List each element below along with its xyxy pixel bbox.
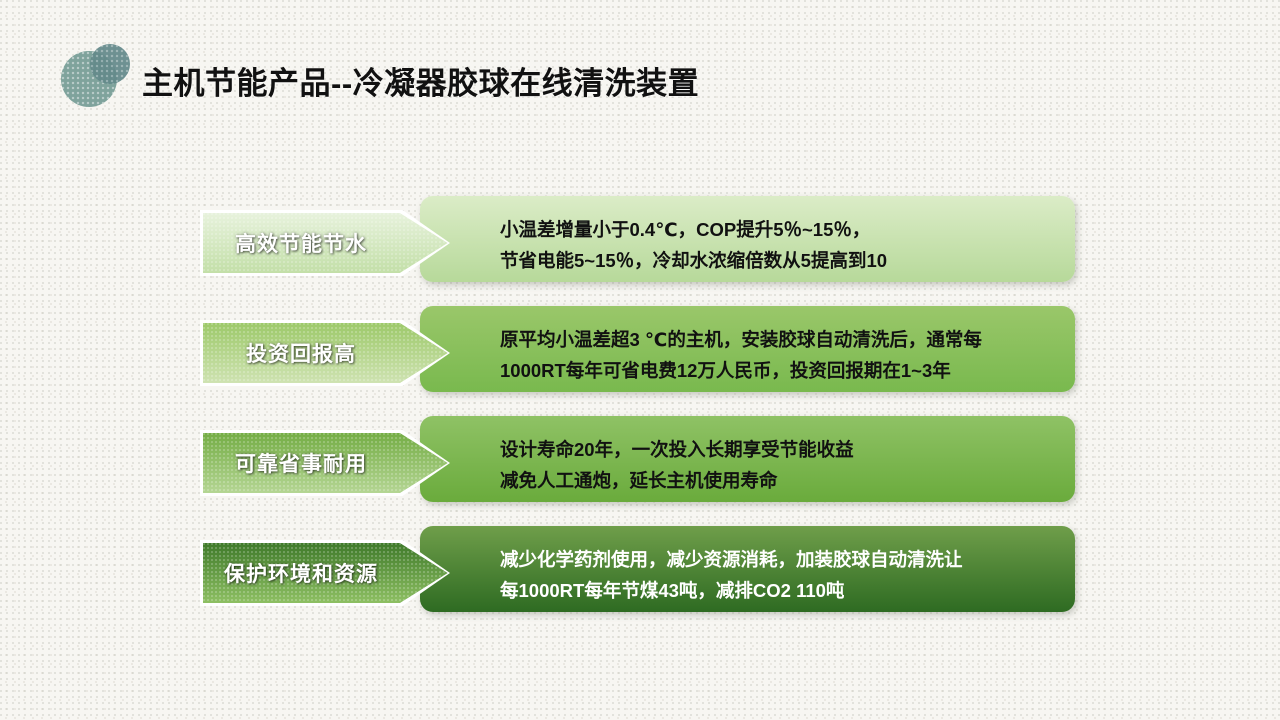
benefit-panel: 减少化学药剂使用，减少资源消耗，加装胶球自动清洗让 每1000RT每年节煤43吨… <box>420 526 1075 612</box>
benefit-panel: 小温差增量小于0.4℃，COP提升5％~15％， 节省电能5~15％，冷却水浓缩… <box>420 196 1075 282</box>
benefit-arrow-badge[interactable]: 可靠省事耐用 <box>200 430 450 496</box>
benefit-body-text: 原平均小温差超3 ℃的主机，安装胶球自动清洗后，通常每 1000RT每年可省电费… <box>500 324 1059 386</box>
benefit-body-text: 小温差增量小于0.4℃，COP提升5％~15％， 节省电能5~15％，冷却水浓缩… <box>500 214 1059 276</box>
page-title: 主机节能产品--冷凝器胶球在线清洗装置 <box>142 58 699 103</box>
benefit-row: 设计寿命20年，一次投入长期享受节能收益 减免人工通炮，延长主机使用寿命 可靠省… <box>0 416 1280 512</box>
benefit-arrow-label: 保护环境和资源 <box>200 540 402 606</box>
benefit-arrow-label: 高效节能节水 <box>200 210 402 276</box>
benefit-arrow-badge[interactable]: 投资回报高 <box>200 320 450 386</box>
benefit-arrow-label: 可靠省事耐用 <box>200 430 402 496</box>
slide-header: 主机节能产品--冷凝器胶球在线清洗装置 <box>0 0 1280 140</box>
benefit-panel: 设计寿命20年，一次投入长期享受节能收益 减免人工通炮，延长主机使用寿命 <box>420 416 1075 502</box>
benefit-row: 减少化学药剂使用，减少资源消耗，加装胶球自动清洗让 每1000RT每年节煤43吨… <box>0 526 1280 622</box>
benefit-body-text: 设计寿命20年，一次投入长期享受节能收益 减免人工通炮，延长主机使用寿命 <box>500 434 1059 496</box>
benefit-arrow-badge[interactable]: 保护环境和资源 <box>200 540 450 606</box>
overlapping-circles-decoration-icon <box>61 44 143 108</box>
benefit-arrow-label: 投资回报高 <box>200 320 402 386</box>
slide-canvas: 主机节能产品--冷凝器胶球在线清洗装置 小温差增量小于0.4℃，COP提升5％~… <box>0 0 1280 720</box>
benefit-body-text: 减少化学药剂使用，减少资源消耗，加装胶球自动清洗让 每1000RT每年节煤43吨… <box>500 544 1059 606</box>
benefit-panel: 原平均小温差超3 ℃的主机，安装胶球自动清洗后，通常每 1000RT每年可省电费… <box>420 306 1075 392</box>
benefit-row: 原平均小温差超3 ℃的主机，安装胶球自动清洗后，通常每 1000RT每年可省电费… <box>0 306 1280 402</box>
benefit-row: 小温差增量小于0.4℃，COP提升5％~15％， 节省电能5~15％，冷却水浓缩… <box>0 196 1280 292</box>
benefit-arrow-badge[interactable]: 高效节能节水 <box>200 210 450 276</box>
circle-front-icon <box>90 44 130 84</box>
